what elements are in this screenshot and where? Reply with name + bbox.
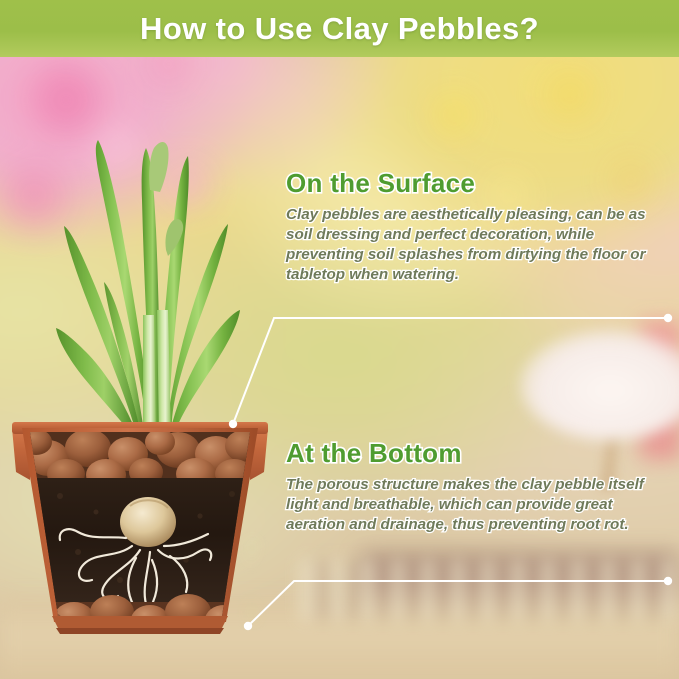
plant-pot-illustration — [0, 60, 300, 679]
section-surface: On the Surface Clay pebbles are aestheti… — [286, 168, 668, 285]
pot-svg — [0, 60, 300, 679]
page-title: How to Use Clay Pebbles? — [140, 11, 539, 47]
pot-base — [52, 616, 228, 628]
plant-bulb — [120, 497, 176, 547]
section-bottom-heading: At the Bottom — [286, 438, 668, 469]
pot-cross-section — [20, 428, 263, 648]
section-surface-body: Clay pebbles are aesthetically pleasing,… — [286, 205, 668, 285]
header-banner: How to Use Clay Pebbles? — [0, 0, 679, 57]
section-surface-heading: On the Surface — [286, 168, 668, 199]
infographic-canvas: How to Use Clay Pebbles? — [0, 0, 679, 679]
section-bottom-body: The porous structure makes the clay pebb… — [286, 475, 668, 535]
section-bottom: At the Bottom The porous structure makes… — [286, 438, 668, 535]
